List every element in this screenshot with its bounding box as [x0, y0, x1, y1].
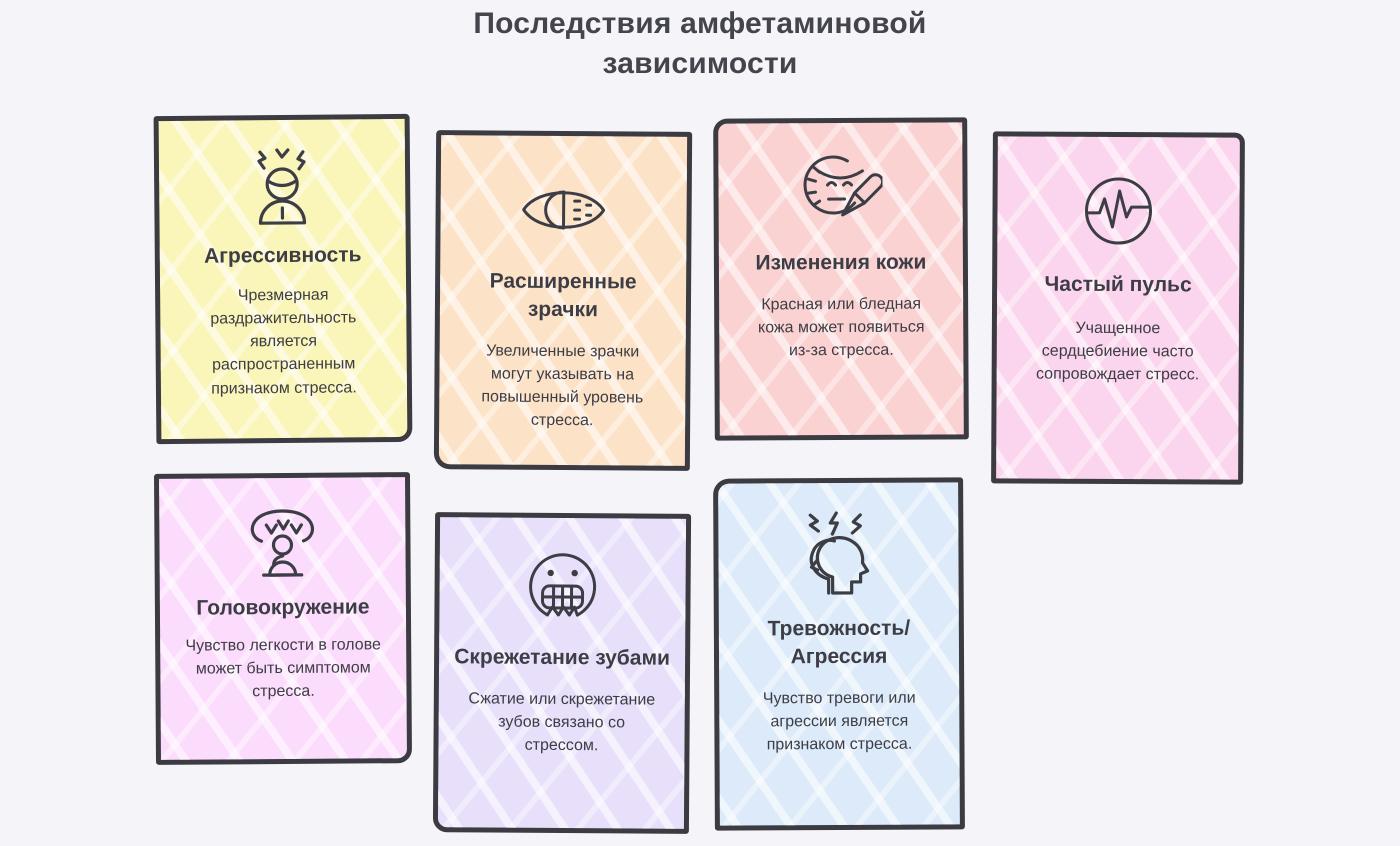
card-description: Чувство тревоги или агрессии является пр…	[719, 686, 959, 757]
card-dizziness[interactable]: Головокружение Чувство легкости в голове…	[154, 472, 412, 765]
page-title-line-1: Последствия амфетаминовой	[0, 4, 1400, 44]
infographic-page: Последствия амфетаминовой зависимости Аг…	[0, 0, 1400, 846]
card-description: Чрезмерная раздражительность является ра…	[160, 283, 407, 401]
two-heads-lightning-icon	[718, 508, 958, 601]
card-description: Увеличенные зрачки могут указывать на по…	[439, 339, 686, 433]
dizzy-person-icon	[159, 499, 406, 583]
angry-person-icon	[159, 143, 406, 229]
card-anxiety-aggression[interactable]: Тревожность/Агрессия Чувство тревоги или…	[713, 477, 965, 830]
card-description: Сжатие или скрежетание зубов связано со …	[438, 687, 684, 758]
page-title: Последствия амфетаминовой зависимости	[0, 4, 1400, 84]
card-description: Чувство легкости в голове может быть сим…	[160, 633, 406, 704]
card-description: Красная или бледная кожа может появиться…	[719, 292, 963, 363]
card-skin-changes[interactable]: Изменения кожи Красная или бледная кожа …	[713, 117, 969, 440]
card-title: Тревожность/Агрессия	[719, 614, 959, 671]
card-title: Агрессивность	[160, 241, 406, 271]
card-aggressiveness[interactable]: Агрессивность Чрезмерная раздражительнос…	[154, 114, 413, 444]
card-rapid-pulse[interactable]: Частый пульс Учащенное сердцебиение част…	[991, 131, 1245, 484]
card-title: Расширенные зрачки	[440, 267, 686, 325]
card-description: Учащенное сердцебиение часто сопровождае…	[997, 316, 1239, 387]
pulse-icon	[997, 168, 1239, 253]
card-teeth-grinding[interactable]: Скрежетание зубами Сжатие или скрежетани…	[433, 512, 691, 834]
face-brush-icon	[718, 150, 962, 235]
card-title: Скрежетание зубами	[439, 643, 685, 673]
card-title: Изменения кожи	[719, 248, 963, 277]
card-title: Головокружение	[160, 593, 406, 623]
eye-icon	[440, 169, 687, 251]
card-title: Частый пульс	[997, 270, 1239, 299]
page-title-line-2: зависимости	[0, 44, 1400, 84]
grinding-teeth-face-icon	[439, 541, 686, 631]
card-dilated-pupils[interactable]: Расширенные зрачки Увеличенные зрачки мо…	[434, 130, 692, 471]
